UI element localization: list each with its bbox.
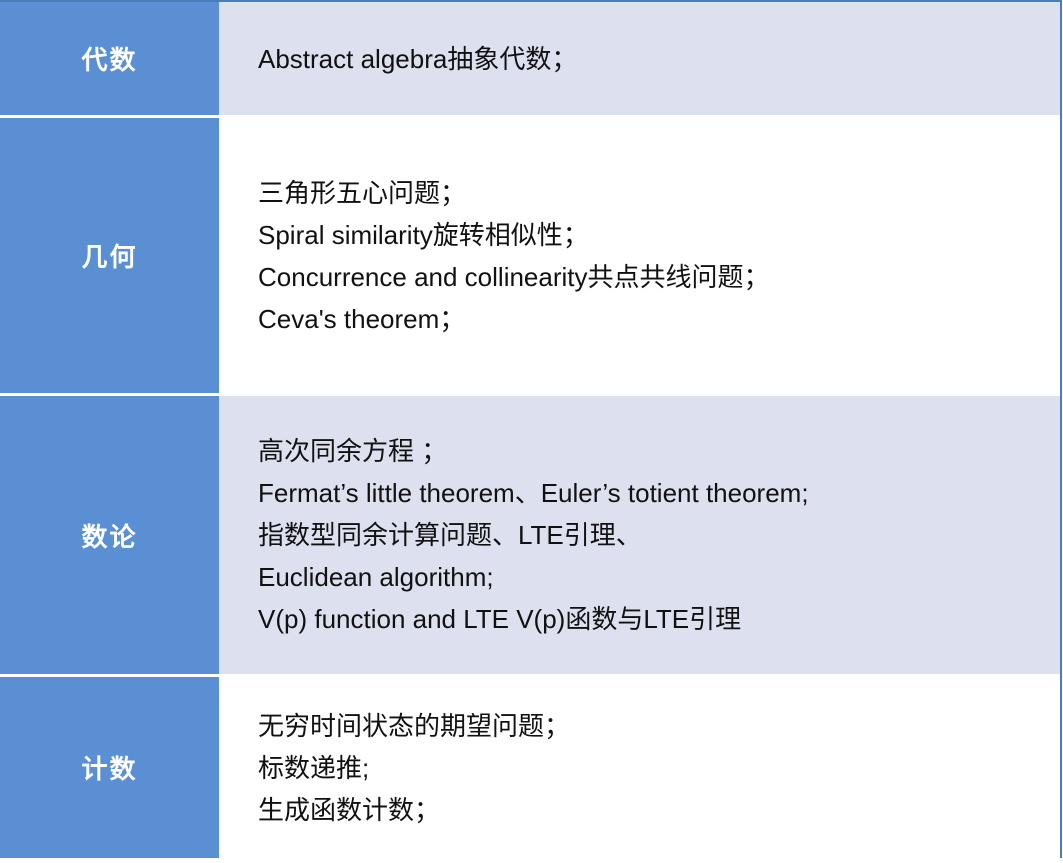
category-cell: 计数 — [0, 674, 219, 858]
topics-cell: 三角形五心问题；Spiral similarity旋转相似性；Concurren… — [219, 115, 1060, 393]
syllabus-table: 代数Abstract algebra抽象代数；几何三角形五心问题；Spiral … — [0, 0, 1062, 858]
topic-line: V(p) function and LTE V(p)函数与LTE引理 — [258, 598, 1046, 640]
category-cell: 几何 — [0, 115, 219, 393]
topic-line: Spiral similarity旋转相似性； — [258, 214, 1046, 256]
topic-line: 无穷时间状态的期望问题； — [258, 705, 1046, 747]
topic-line: Fermat’s little theorem、Euler’s totient … — [258, 472, 1046, 514]
topic-line: 生成函数计数； — [258, 789, 1046, 831]
category-cell: 代数 — [0, 2, 219, 115]
topic-line: Ceva's theorem； — [258, 298, 1046, 340]
topic-line: 三角形五心问题； — [258, 172, 1046, 214]
category-label: 数论 — [81, 517, 137, 554]
topic-line: Concurrence and collinearity共点共线问题； — [258, 256, 1046, 298]
category-label: 计数 — [81, 749, 137, 786]
topics-cell: 高次同余方程 ；Fermat’s little theorem、Euler’s … — [219, 393, 1060, 674]
topic-line: Abstract algebra抽象代数； — [258, 38, 1046, 80]
topics-cell: 无穷时间状态的期望问题；标数递推;生成函数计数； — [219, 674, 1060, 858]
topic-line: 高次同余方程 ； — [258, 430, 1046, 472]
topic-line: 标数递推; — [258, 747, 1046, 789]
table-row: 计数无穷时间状态的期望问题；标数递推;生成函数计数； — [0, 674, 1060, 858]
category-label: 代数 — [81, 40, 137, 77]
topics-cell: Abstract algebra抽象代数； — [219, 2, 1060, 115]
table-row: 数论高次同余方程 ；Fermat’s little theorem、Euler’… — [0, 393, 1060, 674]
topic-line: Euclidean algorithm; — [258, 556, 1046, 598]
category-label: 几何 — [81, 237, 137, 274]
category-cell: 数论 — [0, 393, 219, 674]
table-row: 代数Abstract algebra抽象代数； — [0, 2, 1060, 115]
table-row: 几何三角形五心问题；Spiral similarity旋转相似性；Concurr… — [0, 115, 1060, 393]
topic-line: 指数型同余计算问题、LTE引理、 — [258, 514, 1046, 556]
